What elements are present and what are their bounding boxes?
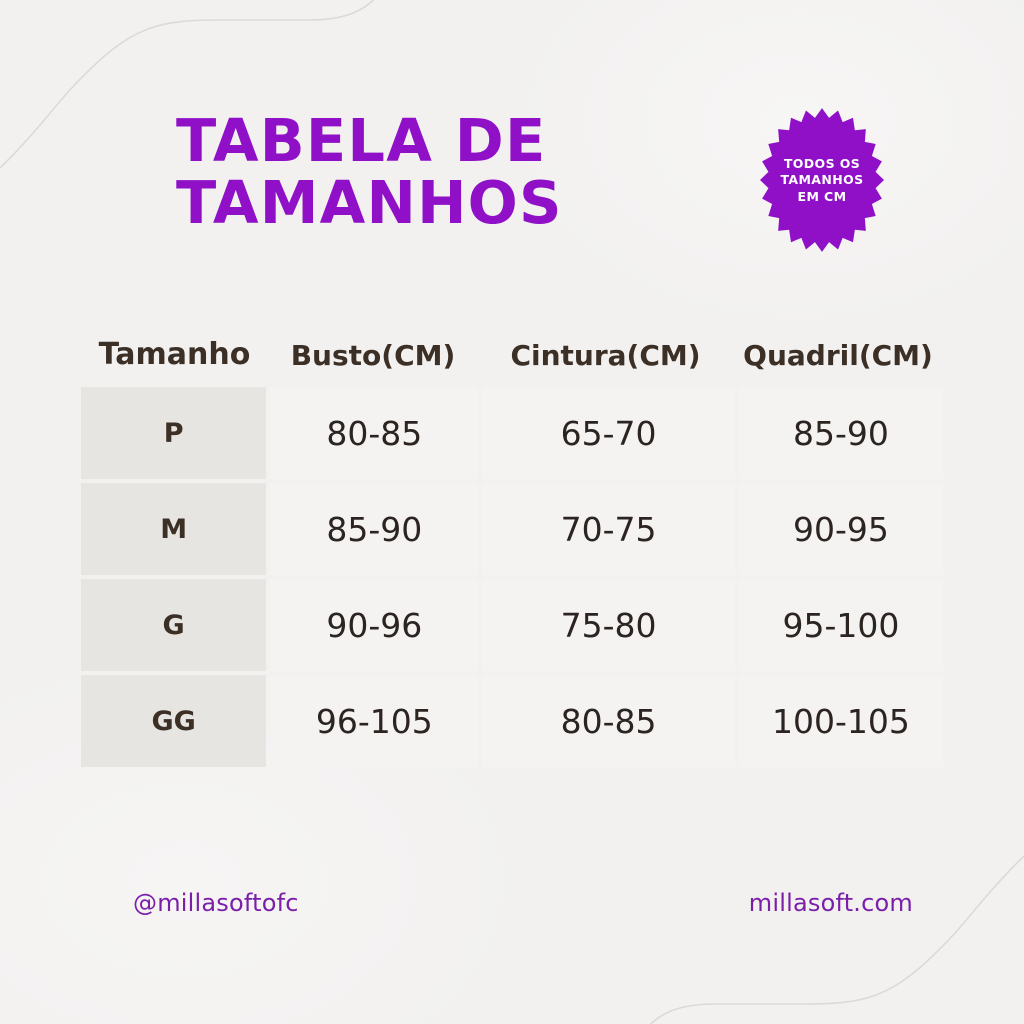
page-title-line-1: TABELA DE (176, 113, 736, 169)
page-title-line-2: TAMANHOS (176, 175, 736, 231)
cell-cintura: 75-80 (482, 579, 735, 671)
cell-busto: 96-105 (270, 675, 478, 767)
table-header-row: Tamanho Busto(CM) Cintura(CM) Quadril(CM… (81, 322, 943, 374)
page-title: TABELA DE TAMANHOS (176, 113, 736, 231)
badge-line-3: EM CM (798, 190, 847, 203)
instagram-handle[interactable]: @millasoftofc (133, 889, 299, 917)
cell-tamanho: G (81, 579, 266, 671)
cell-quadril: 85-90 (739, 387, 943, 479)
cell-busto: 85-90 (270, 483, 478, 575)
table-row: G90-9675-8095-100 (81, 579, 943, 671)
column-header-busto: Busto(CM) (268, 342, 478, 374)
footer: @millasoftofc millasoft.com (133, 889, 913, 917)
cell-cintura: 80-85 (482, 675, 735, 767)
cell-cintura: 70-75 (482, 483, 735, 575)
badge-line-2: TAMANHOS (780, 173, 863, 186)
table-row: M85-9070-7590-95 (81, 483, 943, 575)
cell-quadril: 100-105 (739, 675, 943, 767)
starburst-badge: TODOS OS TAMANHOS EM CM (760, 108, 884, 252)
cell-busto: 90-96 (270, 579, 478, 671)
cell-tamanho: M (81, 483, 266, 575)
column-header-tamanho: Tamanho (81, 340, 268, 374)
cell-tamanho: GG (81, 675, 266, 767)
table-row: GG96-10580-85100-105 (81, 675, 943, 767)
website-url[interactable]: millasoft.com (749, 889, 913, 917)
table-row: P80-8565-7085-90 (81, 387, 943, 479)
column-header-quadril: Quadril(CM) (733, 342, 943, 374)
starburst-badge-text: TODOS OS TAMANHOS EM CM (760, 108, 884, 252)
column-header-cintura: Cintura(CM) (478, 342, 733, 374)
cell-quadril: 90-95 (739, 483, 943, 575)
cell-busto: 80-85 (270, 387, 478, 479)
size-chart-canvas: TABELA DE TAMANHOS TODOS OS TAMANHOS EM … (0, 0, 1024, 1024)
cell-tamanho: P (81, 387, 266, 479)
size-table: Tamanho Busto(CM) Cintura(CM) Quadril(CM… (81, 322, 943, 767)
table-body: P80-8565-7085-90M85-9070-7590-95G90-9675… (81, 387, 943, 767)
cell-cintura: 65-70 (482, 387, 735, 479)
cell-quadril: 95-100 (739, 579, 943, 671)
badge-line-1: TODOS OS (784, 157, 860, 170)
